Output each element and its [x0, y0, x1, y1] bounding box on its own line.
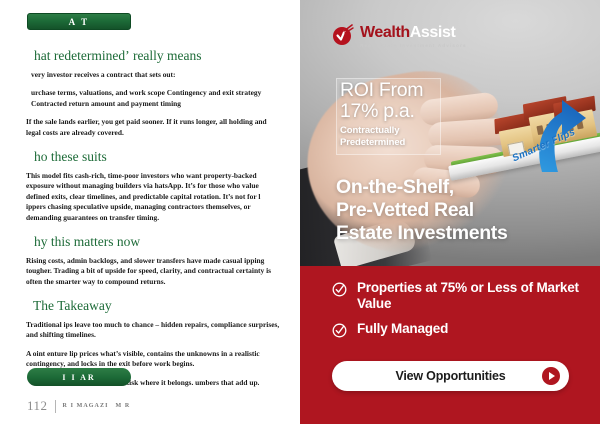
check-circle-icon	[332, 282, 347, 297]
ad-red-panel: Properties at 75% or Less of Market Valu…	[300, 266, 600, 424]
article-section: ho these suits This model fits cash-rich…	[26, 149, 282, 223]
section-heading: hy this matters now	[26, 234, 282, 250]
advertisement-page: Smarter Flips ROI From 17% p.a. Contract…	[300, 0, 600, 424]
folio-divider	[55, 400, 56, 413]
magazine-spread: A T hat redeterminedʼ really means very …	[0, 0, 600, 424]
ad-benefits-list: Properties at 75% or Less of Market Valu…	[332, 280, 582, 346]
section-paragraph: very investor receives a contract that s…	[26, 70, 282, 81]
roi-subtext-line-1: Contractually	[340, 125, 460, 137]
section-paragraph: If the sale lands earlier, you get paid …	[26, 117, 282, 138]
list-item: Properties at 75% or Less of Market Valu…	[332, 280, 582, 313]
view-opportunities-button[interactable]: View Opportunities	[332, 361, 569, 391]
check-seal-icon	[332, 24, 354, 46]
check-circle-icon	[332, 323, 347, 338]
brand-logo: WealthAssist Real Estate Investment Advi…	[332, 24, 467, 48]
brand-name: WealthAssist	[360, 25, 467, 41]
article-section: hy this matters now Rising costs, admin …	[26, 234, 282, 287]
view-opportunities-label: View Opportunities	[395, 369, 505, 383]
ad-headline-line: Estate Investments	[336, 222, 586, 245]
brand-name-part-2: Assist	[410, 24, 456, 41]
section-paragraph: urchase terms, valuations, and work scop…	[26, 88, 282, 109]
benefit-text: Fully Managed	[357, 321, 448, 337]
section-paragraph: This model fits cash-rich, time-poor inv…	[26, 171, 282, 224]
article-page: A T hat redeterminedʼ really means very …	[0, 0, 300, 424]
folio-publication: R I MAGAZI	[63, 403, 109, 409]
play-arrow-icon	[542, 367, 560, 385]
brand-name-part-1: Wealth	[360, 24, 410, 41]
ad-hero-photo: Smarter Flips ROI From 17% p.a. Contract…	[300, 0, 600, 266]
roi-subtext-line-2: Predetermined	[340, 137, 460, 149]
article-section: hat redeterminedʼ really means very inve…	[26, 48, 282, 138]
ad-headline-line: Pre-Vetted Real	[336, 199, 586, 222]
list-item: Fully Managed	[332, 321, 582, 338]
benefit-text: Properties at 75% or Less of Market Valu…	[357, 280, 582, 313]
roi-text-block: ROI From 17% p.a. Contractually Predeter…	[340, 80, 460, 148]
brand-tagline: Real Estate Investment Advisors	[360, 43, 467, 48]
article-body: hat redeterminedʼ really means very inve…	[26, 48, 282, 399]
brand-wordmark: WealthAssist Real Estate Investment Advi…	[360, 24, 467, 48]
folio-page-number: 112	[27, 398, 48, 414]
roi-line-1: ROI From	[340, 80, 460, 101]
section-heading: ho these suits	[26, 149, 282, 165]
section-heading: hat redeterminedʼ really means	[26, 48, 282, 64]
article-kicker-badge: A T	[27, 13, 131, 30]
section-paragraph: Rising costs, admin backlogs, and slower…	[26, 256, 282, 288]
upward-arrow-icon	[528, 78, 598, 174]
roi-subtext: Contractually Predetermined	[340, 125, 460, 148]
ad-headline-line: On-the-Shelf,	[336, 176, 586, 199]
roi-line-2: 17% p.a.	[340, 101, 460, 122]
article-cta-button[interactable]: I I AR	[27, 368, 131, 386]
section-heading: The Takeaway	[26, 298, 282, 314]
page-folio: 112 R I MAGAZI M R	[27, 398, 130, 414]
section-paragraph: Traditional ips leave too much to chance…	[26, 320, 282, 341]
folio-issue: M R	[116, 403, 131, 409]
ad-headline: On-the-Shelf, Pre-Vetted Real Estate Inv…	[336, 176, 586, 245]
section-paragraph: A oint enture lip prices what’s visible,…	[26, 349, 282, 370]
